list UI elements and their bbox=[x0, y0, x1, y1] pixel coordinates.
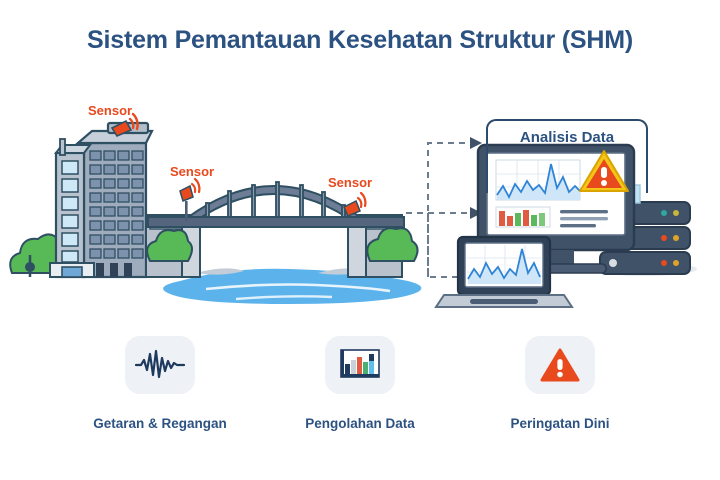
arch-bridge bbox=[146, 182, 421, 304]
sensor-label-building: Sensor bbox=[88, 103, 132, 118]
feature-tile-data-processing bbox=[325, 336, 395, 394]
page-title: Sistem Pemantauan Kesehatan Struktur (SH… bbox=[0, 26, 720, 55]
feature-item-vibration-strain[interactable]: Getaran & Regangan bbox=[60, 336, 260, 431]
sensor-label-bridge-left: Sensor bbox=[170, 164, 214, 179]
feature-label-vibration-strain: Getaran & Regangan bbox=[60, 416, 260, 431]
scene-illustration: Sensor Sensor Sensor Analisis Data bbox=[0, 85, 720, 315]
office-building bbox=[10, 123, 152, 277]
analysis-title: Analisis Data bbox=[486, 129, 648, 146]
warning-triangle-icon bbox=[540, 347, 580, 383]
feature-item-data-processing[interactable]: Pengolahan Data bbox=[260, 336, 460, 431]
feature-tile-early-warning bbox=[525, 336, 595, 394]
bar-chart-icon bbox=[338, 348, 382, 382]
waveform-icon bbox=[134, 349, 186, 381]
sensor-label-bridge-right: Sensor bbox=[328, 175, 372, 190]
feature-label-data-processing: Pengolahan Data bbox=[260, 416, 460, 431]
feature-item-early-warning[interactable]: Peringatan Dini bbox=[460, 336, 660, 431]
feature-row: Getaran & Regangan Pengolahan Data bbox=[0, 336, 720, 446]
feature-label-early-warning: Peringatan Dini bbox=[460, 416, 660, 431]
infographic-canvas: Sistem Pemantauan Kesehatan Struktur (SH… bbox=[0, 0, 720, 480]
monitor-bar-chart bbox=[496, 207, 550, 227]
sensor-icon-bridge-right bbox=[344, 193, 365, 216]
feature-tile-vibration-strain bbox=[125, 336, 195, 394]
